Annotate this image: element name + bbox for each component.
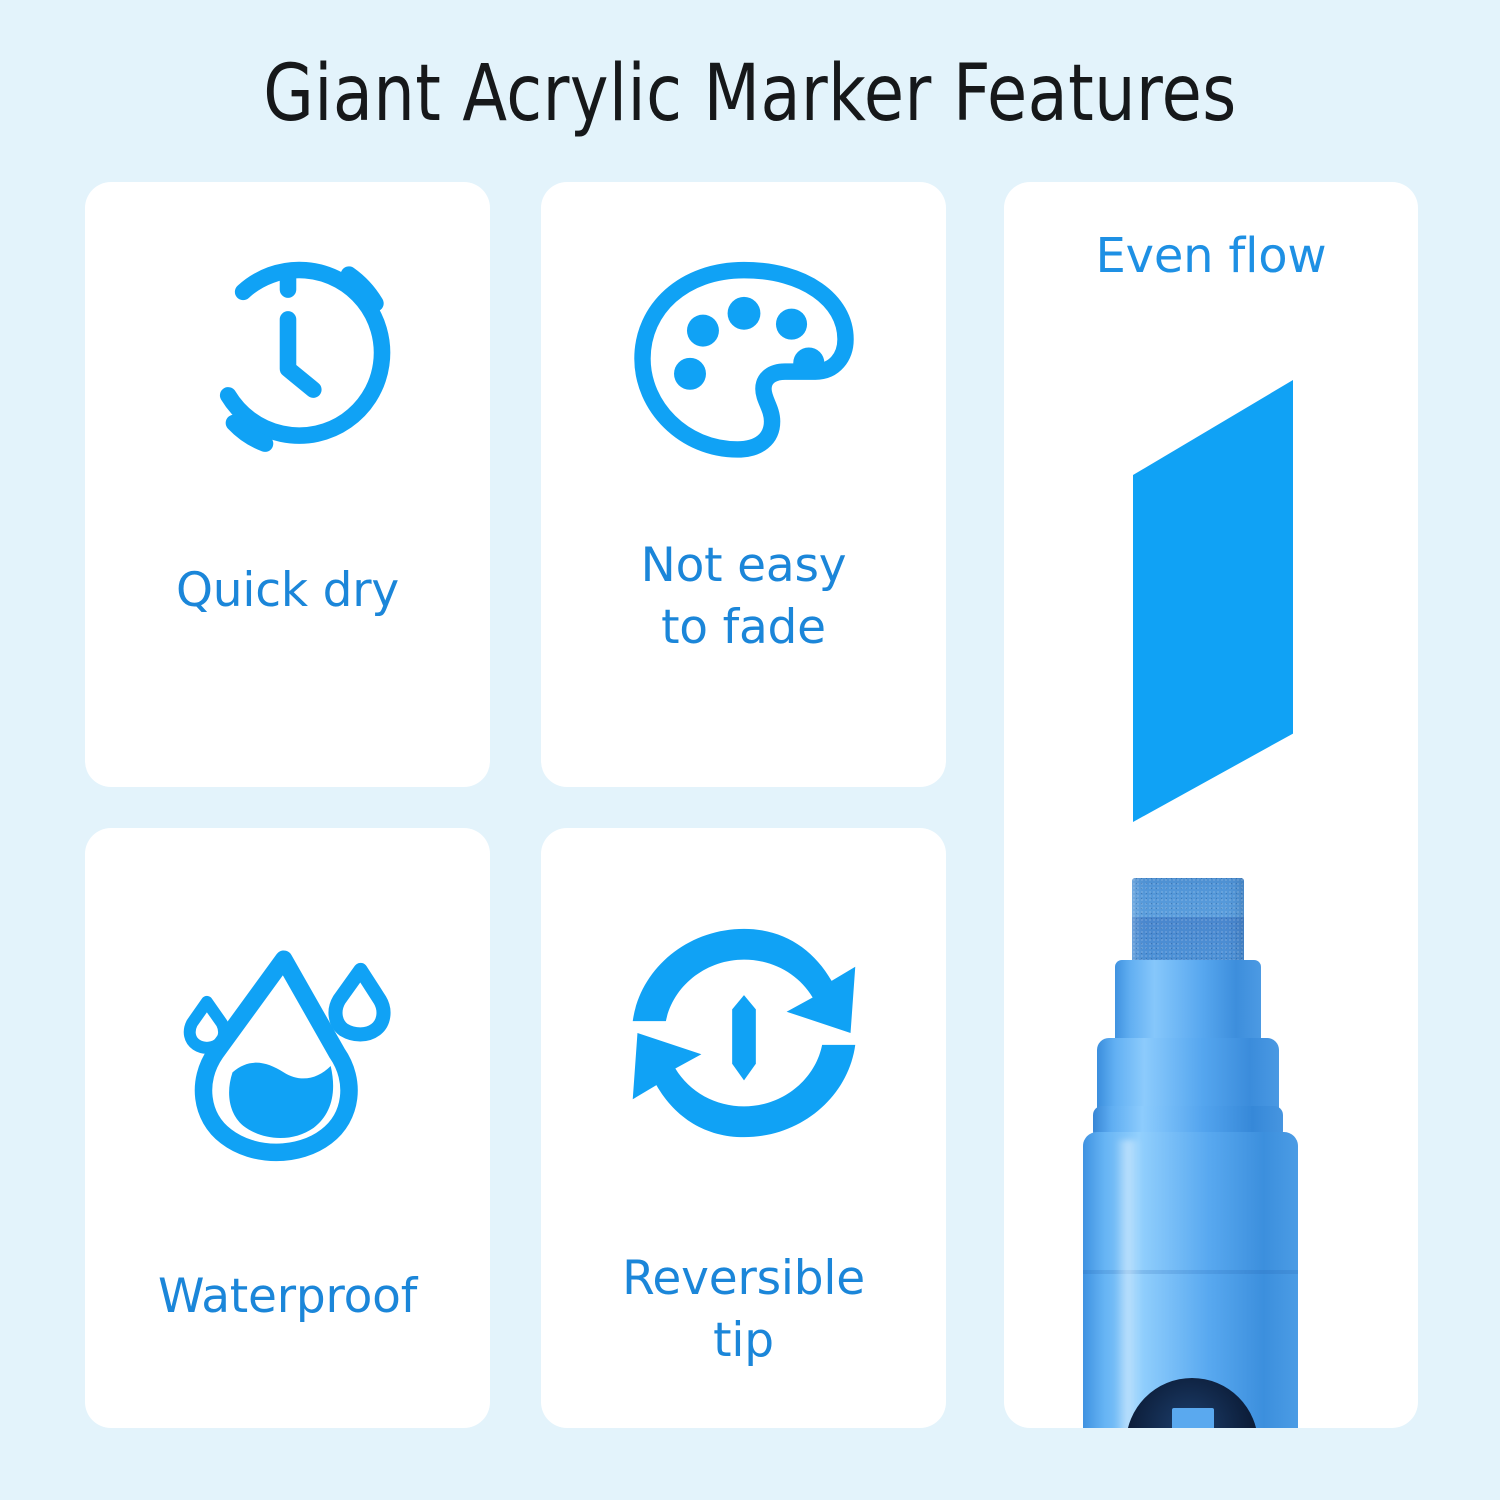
- paint-stroke-swatch: [1133, 380, 1293, 822]
- feature-label-line-1: Not easy: [541, 535, 946, 597]
- feature-label-waterproof: Waterproof: [85, 1266, 490, 1328]
- feature-label-reversible-tip: Reversible tip: [541, 1248, 946, 1372]
- refresh-cycle-icon: [541, 898, 946, 1168]
- feature-card-not-easy-to-fade[interactable]: Not easy to fade: [541, 182, 946, 787]
- feature-label-quick-dry: Quick dry: [85, 560, 490, 622]
- stopwatch-icon: [85, 232, 490, 492]
- marker-base-window: [1172, 1408, 1214, 1428]
- feature-label-line-2: tip: [541, 1310, 946, 1372]
- even-flow-label: Even flow: [1004, 226, 1418, 286]
- feature-label-line-1: Reversible: [541, 1248, 946, 1310]
- marker-barrel-highlight: [1115, 1140, 1141, 1428]
- water-drop-icon: [85, 916, 490, 1186]
- feature-card-quick-dry[interactable]: Quick dry: [85, 182, 490, 787]
- marker-nib: [1132, 878, 1244, 962]
- feature-card-reversible-tip[interactable]: Reversible tip: [541, 828, 946, 1428]
- marker-product-image: [1083, 878, 1333, 1428]
- feature-label-not-easy-to-fade: Not easy to fade: [541, 535, 946, 659]
- feature-card-waterproof[interactable]: Waterproof: [85, 828, 490, 1428]
- marker-nib-collar: [1115, 960, 1261, 1044]
- marker-shoulder: [1097, 1038, 1279, 1116]
- page-title: Giant Acrylic Marker Features: [53, 46, 1448, 142]
- product-showcase-card[interactable]: Even flow: [1004, 182, 1418, 1428]
- feature-label-line-2: to fade: [541, 597, 946, 659]
- paint-palette-icon: [541, 238, 946, 488]
